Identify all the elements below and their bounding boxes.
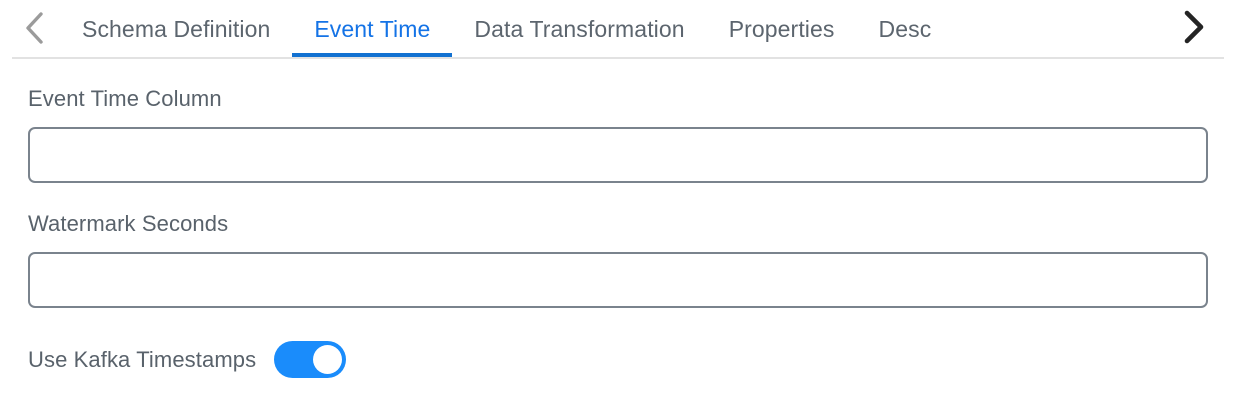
tab-label: Data Transformation [474, 16, 684, 43]
tab-properties[interactable]: Properties [707, 0, 857, 58]
field-event-time-column: Event Time Column [28, 88, 1208, 183]
tabs-scroll-right-container [1150, 0, 1236, 57]
chevron-right-icon [1177, 7, 1209, 50]
tab-schema-definition[interactable]: Schema Definition [60, 0, 292, 58]
field-use-kafka-timestamps: Use Kafka Timestamps [28, 341, 1208, 378]
event-time-column-input[interactable] [28, 127, 1208, 183]
use-kafka-timestamps-label: Use Kafka Timestamps [28, 347, 256, 373]
tab-label: Properties [729, 16, 835, 43]
use-kafka-timestamps-toggle[interactable] [274, 341, 346, 378]
tab-description[interactable]: Desc [857, 0, 954, 58]
tab-label: Schema Definition [82, 16, 270, 43]
tab-data-transformation[interactable]: Data Transformation [452, 0, 706, 58]
tab-label: Event Time [314, 16, 430, 43]
tab-bar: Schema Definition Event Time Data Transf… [0, 0, 1236, 59]
watermark-seconds-input[interactable] [28, 252, 1208, 308]
tab-bar-divider [12, 57, 1224, 59]
tab-event-time[interactable]: Event Time [292, 0, 452, 58]
event-time-form: Event Time Column Watermark Seconds Use … [0, 88, 1236, 378]
tabs-scroll-right-button[interactable] [1167, 0, 1219, 58]
tab-strip: Schema Definition Event Time Data Transf… [0, 0, 953, 58]
tab-label: Desc [879, 16, 932, 43]
tabs-scroll-left-button[interactable] [8, 0, 60, 58]
chevron-left-icon [19, 9, 49, 50]
field-watermark-seconds: Watermark Seconds [28, 213, 1208, 308]
watermark-seconds-label: Watermark Seconds [28, 213, 1208, 235]
toggle-knob [313, 345, 342, 374]
event-time-column-label: Event Time Column [28, 88, 1208, 110]
